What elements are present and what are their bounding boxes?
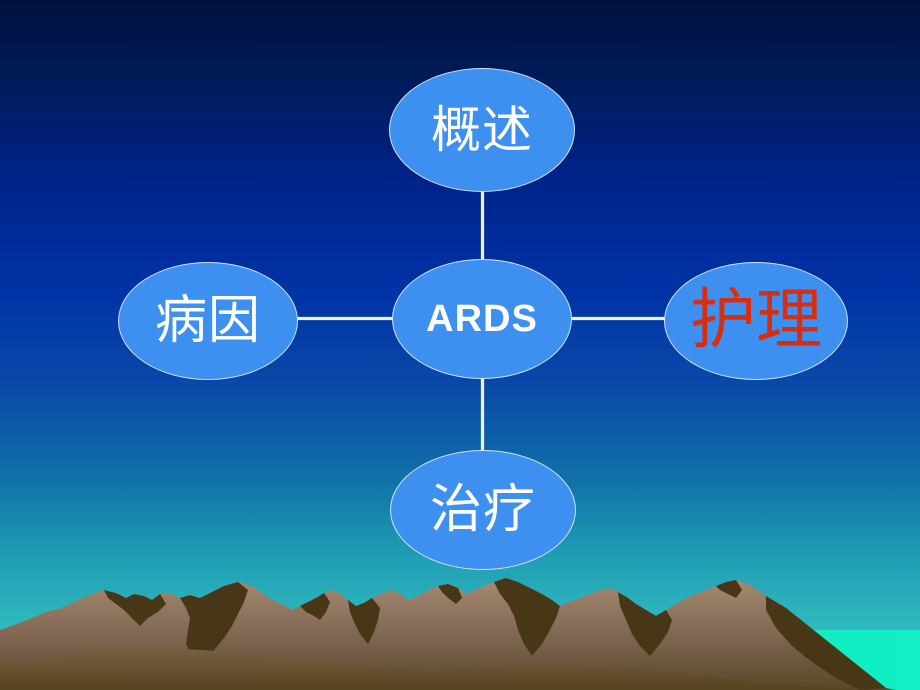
connector-center-to-nursing bbox=[570, 317, 666, 320]
node-ards-label: ARDS bbox=[426, 300, 538, 338]
node-etiology[interactable]: 病因 bbox=[118, 262, 298, 380]
node-overview[interactable]: 概述 bbox=[389, 68, 575, 192]
node-nursing[interactable]: 护理 bbox=[664, 262, 848, 380]
node-treatment-label: 治疗 bbox=[430, 484, 536, 536]
slide-canvas: 概述 病因 ARDS 护理 治疗 bbox=[0, 0, 920, 690]
connector-center-to-overview bbox=[481, 190, 484, 262]
node-nursing-label: 护理 bbox=[690, 287, 822, 353]
connector-center-to-etiology bbox=[296, 317, 394, 320]
node-ards-center[interactable]: ARDS bbox=[392, 259, 572, 379]
node-overview-label: 概述 bbox=[431, 105, 533, 155]
node-etiology-label: 病因 bbox=[155, 295, 261, 347]
connector-center-to-treatment bbox=[481, 377, 484, 452]
node-treatment[interactable]: 治疗 bbox=[390, 450, 576, 570]
concept-map: 概述 病因 ARDS 护理 治疗 bbox=[0, 0, 920, 690]
